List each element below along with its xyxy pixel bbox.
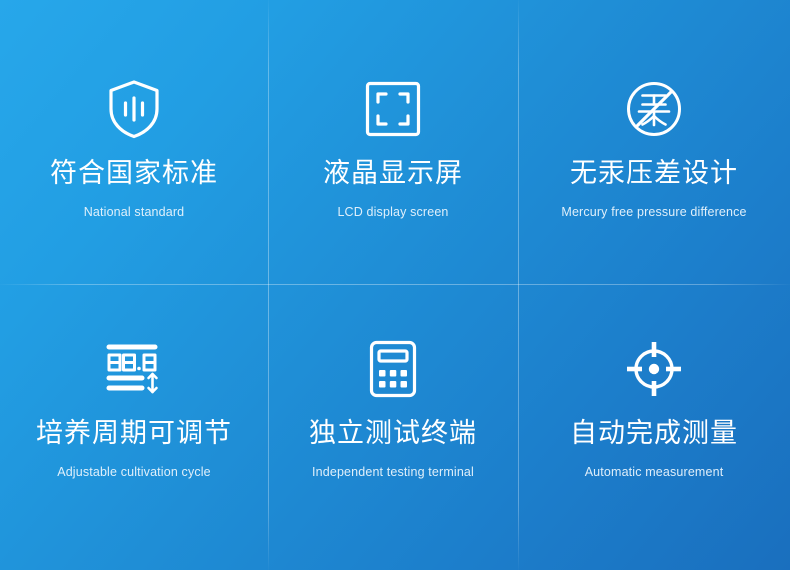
feature-cell-lcd-display: 液晶显示屏 LCD display screen (268, 0, 518, 284)
feature-cell-automatic-measurement: 自动完成测量 Automatic measurement (518, 284, 790, 570)
feature-title-cn: 独立测试终端 (309, 418, 477, 449)
feature-grid: 符合国家标准 National standard 液晶显示屏 LCD displ… (0, 0, 790, 570)
feature-title-cn: 符合国家标准 (50, 158, 218, 189)
feature-cell-testing-terminal: 独立测试终端 Independent testing terminal (268, 284, 518, 570)
shield-signal-icon (103, 78, 165, 140)
feature-title-en: National standard (84, 205, 185, 220)
feature-title-en: Mercury free pressure difference (561, 205, 746, 220)
calculator-terminal-icon (362, 338, 424, 400)
feature-title-cn: 液晶显示屏 (323, 158, 463, 189)
feature-cell-adjustable-cycle: 培养周期可调节 Adjustable cultivation cycle (0, 284, 268, 570)
feature-highlights-panel: 符合国家标准 National standard 液晶显示屏 LCD displ… (0, 0, 790, 570)
adjustable-cycle-icon (103, 338, 165, 400)
feature-title-cn: 培养周期可调节 (36, 418, 232, 449)
feature-title-en: Adjustable cultivation cycle (57, 465, 211, 480)
feature-title-en: LCD display screen (337, 205, 448, 220)
feature-title-en: Automatic measurement (585, 465, 724, 480)
no-mercury-icon (623, 78, 685, 140)
lcd-screen-icon (362, 78, 424, 140)
crosshair-target-icon (623, 338, 685, 400)
feature-title-cn: 自动完成测量 (570, 418, 738, 449)
feature-cell-national-standard: 符合国家标准 National standard (0, 0, 268, 284)
feature-title-cn: 无汞压差设计 (570, 158, 738, 189)
feature-title-en: Independent testing terminal (312, 465, 474, 480)
feature-cell-mercury-free: 无汞压差设计 Mercury free pressure difference (518, 0, 790, 284)
